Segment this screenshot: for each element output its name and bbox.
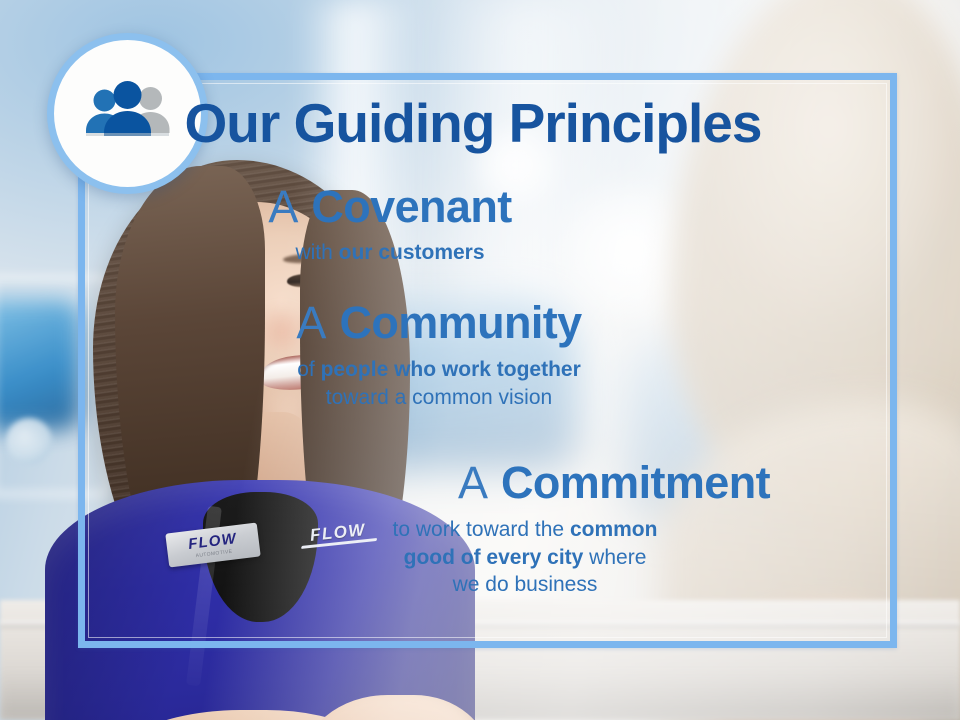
principle-2-sub-line1: of people who work together: [30, 356, 848, 384]
principle-3-sub-plain: to work toward the: [393, 518, 570, 541]
principle-2-key: Community: [339, 297, 581, 348]
principle-2-sub-bold: people who work together: [321, 358, 581, 381]
principle-3-sub-bold: common: [570, 518, 658, 541]
principle-1-sub-plain: with: [295, 241, 338, 264]
principle-commitment: A Commitment to work toward the common g…: [30, 460, 870, 599]
principle-1-key: Covenant: [311, 181, 511, 232]
page-title: Our Guiding Principles: [78, 96, 868, 151]
principle-1-sub-bold: our customers: [339, 241, 485, 264]
guiding-principles-poster: FLOW AUTOMOTIVE FLOW Ou: [0, 0, 960, 720]
principle-community: A Community of people who work together …: [30, 300, 870, 411]
principle-3-key: Commitment: [501, 457, 770, 508]
principle-1-subtext: with our customers: [30, 239, 870, 267]
principle-1-headline: A Covenant: [30, 184, 870, 230]
principle-2-subtext: of people who work together toward a com…: [30, 356, 870, 411]
principle-3-sub-line2-bold: good of every city: [404, 546, 584, 569]
principle-3-sub-line1: to work toward the common: [210, 516, 840, 544]
principle-2-headline: A Community: [30, 300, 870, 346]
principle-covenant: A Covenant with our customers: [30, 184, 870, 267]
principle-3-sub-line2-plain: where: [583, 546, 646, 569]
principle-2-sub-plain: of: [297, 358, 320, 381]
principle-3-subtext: to work toward the common good of every …: [30, 516, 870, 599]
principle-2-sub-line2: toward a common vision: [30, 384, 848, 412]
principle-1-lead: A: [268, 181, 299, 232]
principle-3-lead: A: [458, 457, 489, 508]
text-content: Our Guiding Principles A Covenant with o…: [0, 0, 960, 720]
principle-3-sub-line2: good of every city where: [210, 544, 840, 572]
principle-2-lead: A: [296, 297, 327, 348]
principle-3-headline: A Commitment: [30, 460, 870, 506]
principle-3-sub-line3: we do business: [210, 571, 840, 599]
